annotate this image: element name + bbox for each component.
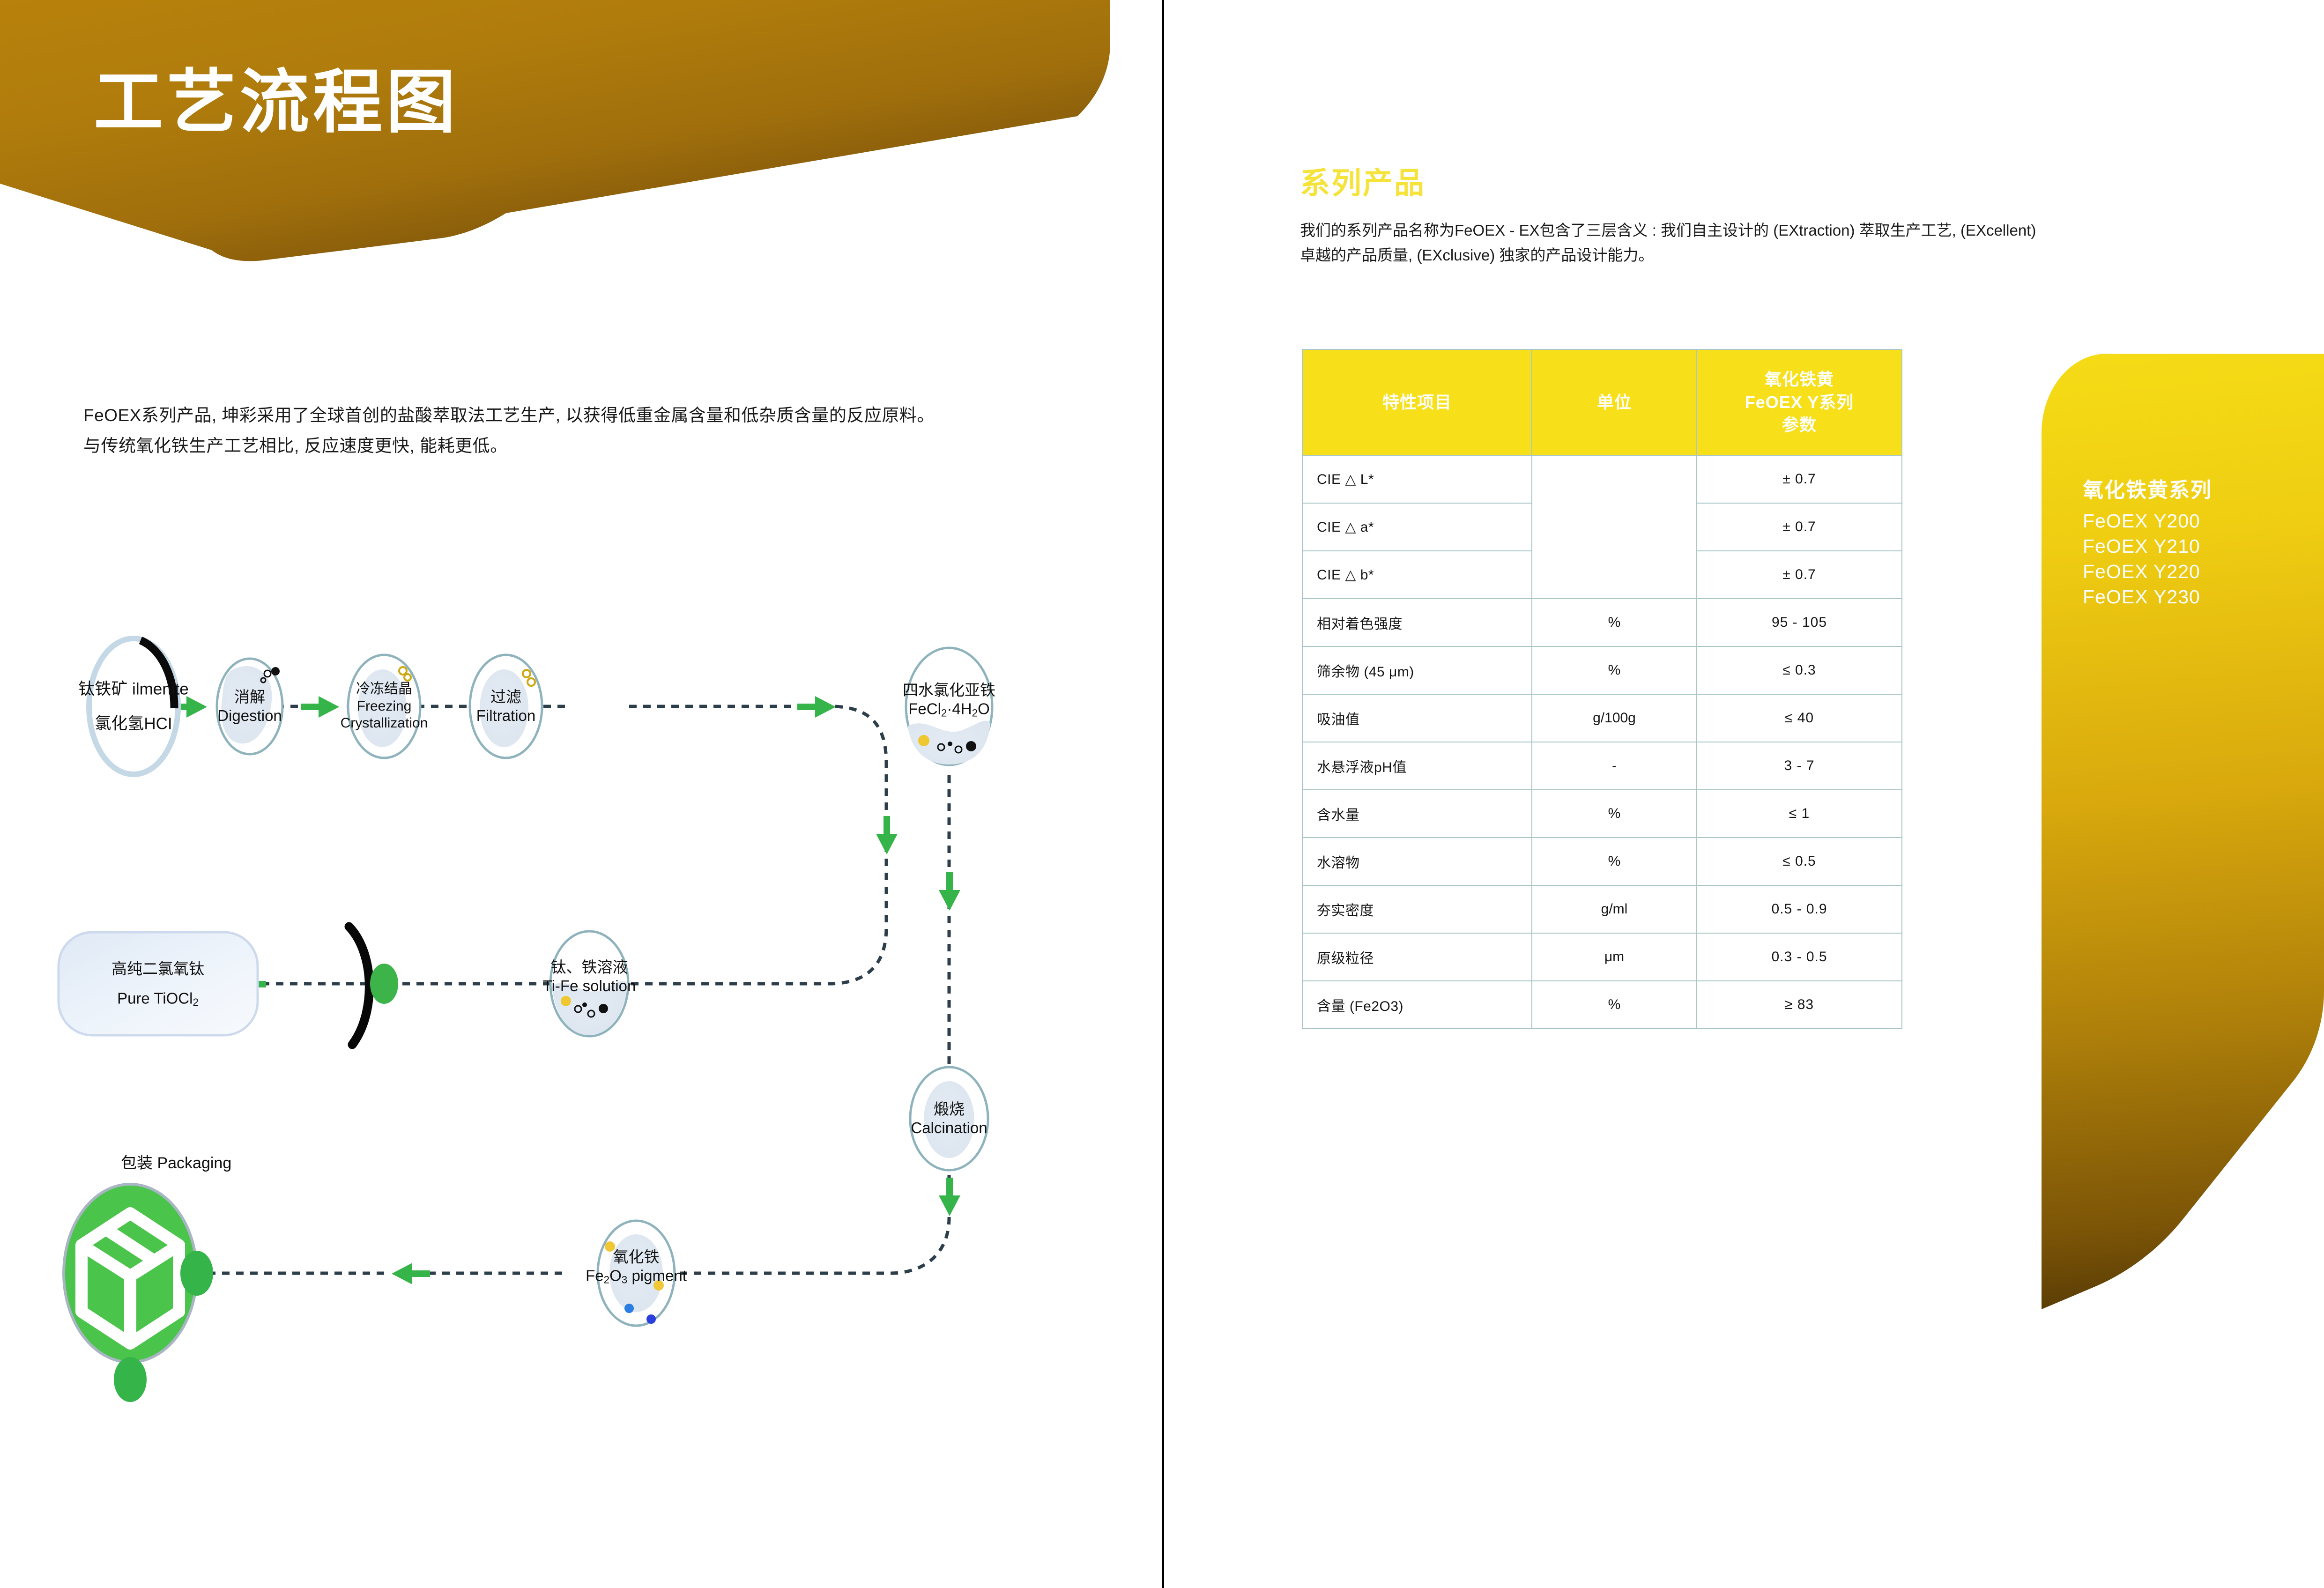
node-ilmenite: [89, 638, 178, 774]
spec-item: 夯实密度: [1302, 885, 1532, 933]
spec-value: 95 - 105: [1697, 599, 1902, 646]
spec-header-unit: 单位: [1532, 349, 1697, 455]
spec-table: 特性项目 单位 氧化铁黄 FeOEX Y系列 参数 CIE △ L* ± 0.7…: [1302, 349, 1902, 1029]
spec-item: 筛余物 (45 μm): [1302, 646, 1532, 694]
spec-table-header-row: 特性项目 单位 氧化铁黄 FeOEX Y系列 参数: [1302, 349, 1902, 455]
spec-value: ≤ 0.3: [1697, 646, 1902, 694]
spec-unit: %: [1532, 599, 1697, 646]
spec-value: ± 0.7: [1697, 551, 1902, 599]
list-item: FeOEX Y220: [2083, 559, 2200, 584]
arrow-down-3: [939, 1178, 960, 1216]
arrow-right-2: [301, 696, 339, 718]
left-intro-line-1: FeOEX系列产品, 坤彩采用了全球首创的盐酸萃取法工艺生产, 以获得低重金属含…: [83, 401, 1067, 431]
spec-item: CIE △ L*: [1302, 455, 1532, 503]
table-row: 水悬浮液pH值 - 3 - 7: [1302, 742, 1902, 790]
list-item: FeOEX Y230: [2083, 584, 2200, 609]
spec-value: ≤ 40: [1697, 694, 1902, 742]
spec-item: 含量 (Fe2O3): [1302, 981, 1532, 1029]
series-intro: 我们的系列产品名称为FeOEX - EX包含了三层含义 : 我们自主设计的 (E…: [1300, 218, 2049, 268]
spec-value: ± 0.7: [1697, 455, 1902, 503]
spec-item: 原级粒径: [1302, 933, 1532, 981]
table-row: 筛余物 (45 μm) % ≤ 0.3: [1302, 646, 1902, 694]
flow-svg: [0, 609, 1134, 1405]
table-row: 水溶物 % ≤ 0.5: [1302, 838, 1902, 885]
spec-unit: [1532, 455, 1697, 599]
spec-header-value: 氧化铁黄 FeOEX Y系列 参数: [1697, 349, 1902, 455]
spec-value: ± 0.7: [1697, 503, 1902, 551]
arrow-down-2: [939, 872, 960, 911]
arrow-right-3: [797, 696, 836, 718]
spec-item: 水溶物: [1302, 838, 1532, 885]
node-filtration: [470, 655, 542, 758]
process-flow-diagram: 钛铁矿 ilmenite 氯化氢HCI 消解 Digestion 冷冻结晶 Fr…: [0, 609, 1134, 1405]
spec-header-value-line-3: 参数: [1698, 414, 1901, 437]
spec-item: CIE △ a*: [1302, 503, 1532, 551]
side-panel-title: 氧化铁黄系列: [2083, 473, 2212, 503]
green-dot-connector-mid: [370, 964, 398, 1004]
page-title: 工艺流程图: [94, 68, 459, 137]
table-row: 原级粒径 μm 0.3 - 0.5: [1302, 933, 1902, 981]
spec-unit: -: [1532, 742, 1697, 790]
arrow-left-1: [392, 1263, 430, 1284]
spec-unit: %: [1532, 646, 1697, 694]
spec-item: 水悬浮液pH值: [1302, 742, 1532, 790]
node-digestion: [217, 659, 282, 754]
spec-header-item: 特性项目: [1302, 349, 1532, 455]
table-row: 吸油值 g/100g ≤ 40: [1302, 694, 1902, 742]
node-tiocl2: [59, 927, 398, 1045]
node-tife: [550, 931, 628, 1036]
spec-unit: g/ml: [1532, 885, 1697, 933]
node-freezing: [348, 655, 420, 758]
green-dot-foot: [114, 1357, 147, 1402]
spec-unit: %: [1532, 981, 1697, 1029]
spec-value: ≤ 0.5: [1697, 838, 1902, 885]
spec-header-value-line-2: FeOEX Y系列: [1698, 391, 1901, 414]
packaging-caption: 包装 Packaging: [121, 1150, 231, 1173]
spec-value: 0.3 - 0.5: [1697, 933, 1902, 981]
left-intro-line-2: 与传统氧化铁生产工艺相比, 反应速度更快, 能耗更低。: [83, 431, 1067, 461]
table-row: CIE △ L* ± 0.7: [1302, 455, 1902, 503]
spec-item: 相对着色强度: [1302, 599, 1532, 646]
table-row: 含量 (Fe2O3) % ≥ 83: [1302, 981, 1902, 1029]
node-packaging: [64, 1184, 213, 1402]
green-dot-connector-bottom: [180, 1251, 213, 1296]
side-panel-product-list: FeOEX Y200 FeOEX Y210 FeOEX Y220 FeOEX Y…: [2083, 508, 2200, 609]
spec-header-value-line-1: 氧化铁黄: [1698, 368, 1901, 391]
series-heading: 系列产品: [1300, 159, 1426, 202]
spec-value: ≤ 1: [1697, 790, 1902, 838]
node-fecl2: [906, 648, 992, 765]
page-divider: [1162, 0, 1164, 1588]
spec-item: CIE △ b*: [1302, 551, 1532, 599]
table-row: 相对着色强度 % 95 - 105: [1302, 599, 1902, 646]
spec-value: 0.5 - 0.9: [1697, 885, 1902, 933]
spec-item: 吸油值: [1302, 694, 1532, 742]
list-item: FeOEX Y210: [2083, 534, 2200, 559]
spec-item: 含水量: [1302, 790, 1532, 838]
list-item: FeOEX Y200: [2083, 508, 2200, 534]
arrow-down-1: [876, 816, 898, 854]
node-calcination: [910, 1067, 988, 1170]
spec-value: ≥ 83: [1697, 981, 1902, 1029]
spec-value: 3 - 7: [1697, 742, 1902, 790]
spec-unit: %: [1532, 838, 1697, 885]
node-fe2o3: [598, 1221, 675, 1326]
left-intro-paragraph: FeOEX系列产品, 坤彩采用了全球首创的盐酸萃取法工艺生产, 以获得低重金属含…: [83, 401, 1067, 461]
brochure-spread: 工艺流程图 FeOEX系列产品, 坤彩采用了全球首创的盐酸萃取法工艺生产, 以获…: [0, 0, 2324, 1588]
table-row: 含水量 % ≤ 1: [1302, 790, 1902, 838]
spec-unit: μm: [1532, 933, 1697, 981]
table-row: 夯实密度 g/ml 0.5 - 0.9: [1302, 885, 1902, 933]
spec-unit: %: [1532, 790, 1697, 838]
spec-unit: g/100g: [1532, 694, 1697, 742]
